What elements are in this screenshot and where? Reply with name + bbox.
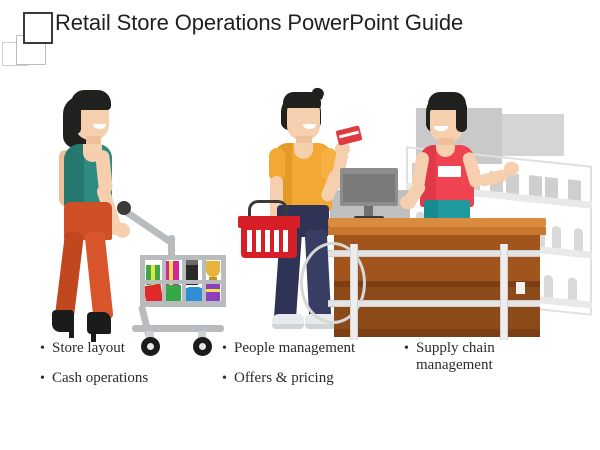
queue-rail: [300, 240, 540, 340]
bullet-label: Supply chain management: [416, 340, 554, 374]
woman-leg-front: [84, 231, 113, 321]
cart-item-gift-purple-stripe: [206, 289, 220, 292]
shelf-bottle: [552, 226, 561, 249]
basket-slot: [274, 230, 279, 252]
basket-slot: [283, 230, 288, 252]
cart-item-trophy-gold: [206, 261, 220, 277]
cashier-hand-left: [400, 196, 416, 209]
rail-bar-upper: [328, 250, 540, 257]
three-squares-logo: [2, 6, 58, 66]
bullet-item: • Cash operations: [40, 370, 220, 387]
monitor-screen-inner: [343, 174, 395, 202]
woman-hair-sideburn: [71, 102, 81, 134]
cashier-name-badge: [438, 166, 461, 177]
rail-post-left: [350, 244, 358, 340]
bullet-label: Offers & pricing: [234, 370, 402, 387]
shopping-basket: [238, 200, 300, 270]
bullet-marker-icon: •: [222, 370, 234, 387]
bullet-label: Cash operations: [52, 370, 220, 387]
bullet-label: People management: [234, 340, 402, 357]
bullet-column-2: • People management • Offers & pricing: [222, 340, 402, 400]
basket-slot: [247, 230, 252, 252]
woman-top-shadow: [64, 144, 84, 208]
bullet-item: • Supply chain management: [404, 340, 554, 374]
shelf-product: [545, 177, 558, 198]
cart-handle-bar: [122, 208, 174, 246]
bullet-marker-icon: •: [40, 370, 52, 387]
bullet-item: • Store layout: [40, 340, 220, 357]
counter-item: [516, 282, 525, 294]
woman-boot-back-heel: [69, 324, 74, 338]
bullet-label: Store layout: [52, 340, 220, 357]
bullet-marker-icon: •: [404, 340, 416, 357]
bullet-column-3: • Supply chain management: [404, 340, 554, 387]
cart-basket-edge-left: [140, 255, 145, 307]
cart-handle-grip: [117, 201, 131, 215]
counter-top-surface: [328, 218, 546, 227]
bullet-marker-icon: •: [222, 340, 234, 357]
shopping-cart: [118, 195, 228, 335]
cart-basket-rib: [182, 255, 186, 305]
pos-monitor: [340, 168, 400, 224]
cart-basket-rib: [162, 255, 166, 305]
bullet-marker-icon: •: [40, 340, 52, 357]
basket-slot: [256, 230, 261, 252]
shelf-bottle: [568, 277, 577, 300]
shelf-bottle: [574, 228, 583, 251]
bullet-item: • Offers & pricing: [222, 370, 402, 387]
slide-title: Retail Store Operations PowerPoint Guide: [55, 9, 463, 37]
bullet-columns: • Store layout • Cash operations • Peopl…: [0, 340, 600, 450]
cashier-hand-right: [504, 162, 519, 175]
counter-top-edge: [328, 227, 546, 235]
cashier: [400, 92, 520, 232]
cart-basket-edge-right: [221, 255, 226, 307]
basket-slot: [265, 230, 270, 252]
shelf-product: [568, 179, 581, 200]
bullet-column-1: • Store layout • Cash operations: [40, 340, 220, 400]
rail-post-right: [500, 244, 508, 340]
shelf-product: [529, 175, 542, 196]
woman-leg-back: [55, 231, 84, 319]
cashier-hair-side: [456, 102, 467, 132]
rail-bar-lower: [328, 300, 540, 307]
logo-square-front: [23, 12, 53, 44]
retail-store-illustration: [0, 70, 600, 340]
slide-canvas: Retail Store Operations PowerPoint Guide: [0, 0, 600, 450]
cart-basket-rib: [202, 255, 206, 305]
bullet-item: • People management: [222, 340, 402, 357]
